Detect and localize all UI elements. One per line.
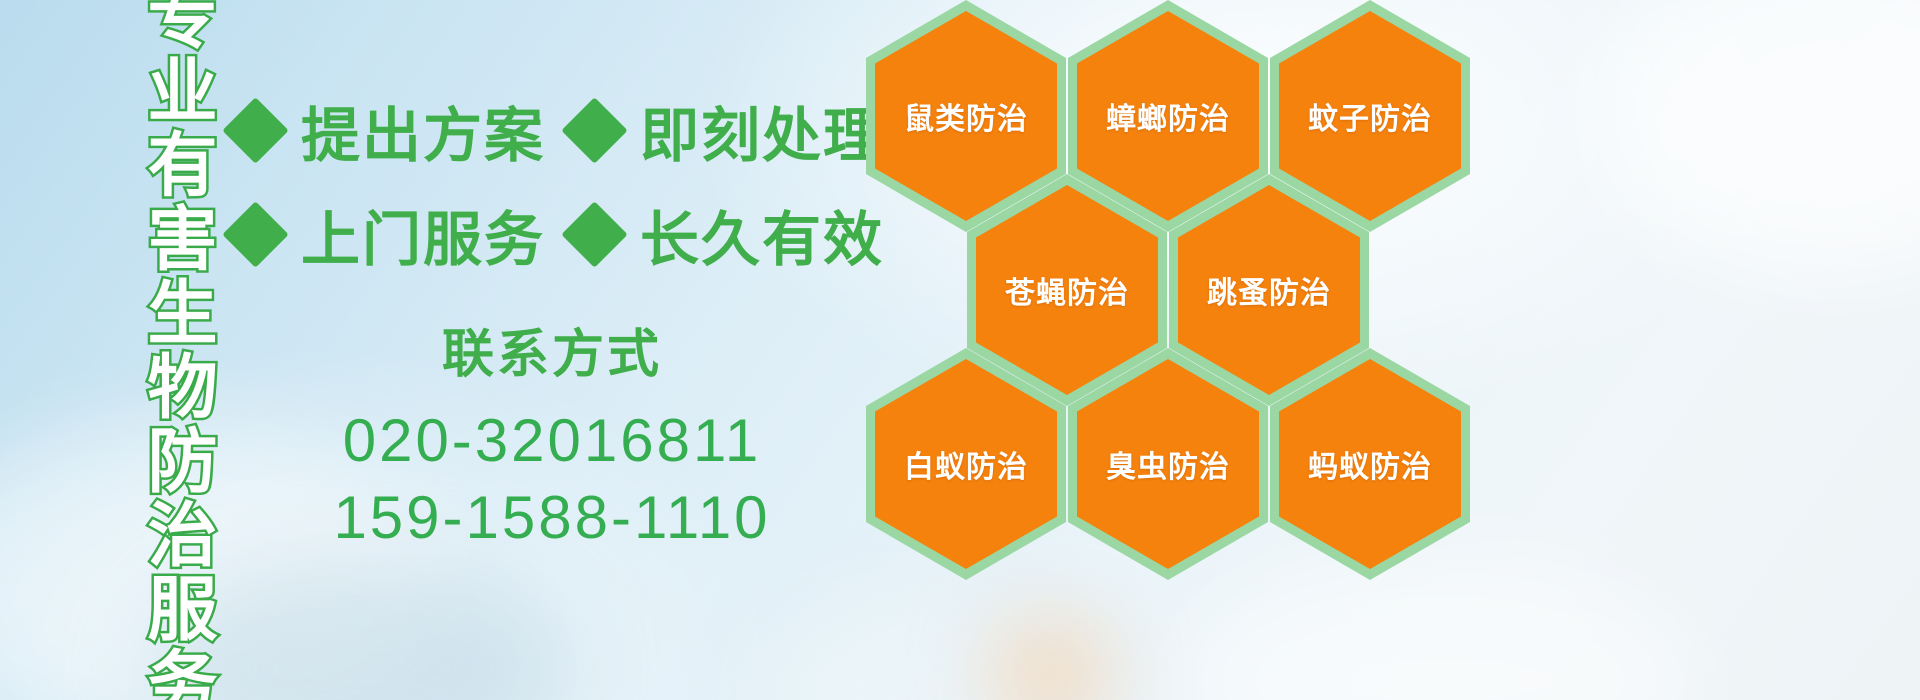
- feature-label: 即刻处理: [640, 88, 884, 173]
- contact-title: 联系方式: [232, 312, 872, 387]
- feature-list: 提出方案 即刻处理 上门服务 长久有效: [232, 78, 872, 286]
- service-label: 跳蚤防治: [1207, 268, 1331, 312]
- contact-block: 联系方式 020-32016811 159-1588-1110: [232, 312, 872, 557]
- diamond-bullet-icon: [561, 97, 627, 163]
- feature-label: 上门服务: [301, 192, 545, 277]
- phone-number-mobile[interactable]: 159-1588-1110: [232, 480, 872, 557]
- feature-label: 提出方案: [301, 88, 545, 173]
- diamond-bullet-icon: [222, 201, 288, 267]
- pest-control-banner: 专业有害生物防治服务 提出方案 即刻处理 上门服务 长久有效 联系方式 0: [0, 0, 1920, 700]
- service-label: 鼠类防治: [904, 94, 1028, 138]
- service-label: 苍蝇防治: [1005, 268, 1129, 312]
- vertical-headline: 专业有害生物防治服务: [108, 10, 212, 690]
- feature-row: 上门服务 长久有效: [232, 182, 872, 286]
- service-honeycomb: 鼠类防治 蟑螂防治 蚊子防治 苍蝇防治 跳蚤防治 白蚁防治 臭虫防治 蚂蚁: [858, 0, 1478, 700]
- diamond-bullet-icon: [561, 201, 627, 267]
- service-label: 臭虫防治: [1106, 442, 1230, 486]
- phone-number-landline[interactable]: 020-32016811: [232, 403, 872, 480]
- feature-label: 长久有效: [640, 192, 884, 277]
- service-label: 白蚁防治: [904, 442, 1028, 486]
- feature-item: 即刻处理: [571, 88, 884, 173]
- service-label: 蟑螂防治: [1106, 94, 1230, 138]
- feature-item: 上门服务: [232, 192, 545, 277]
- service-label: 蚂蚁防治: [1308, 442, 1432, 486]
- feature-row: 提出方案 即刻处理: [232, 78, 872, 182]
- feature-item: 长久有效: [571, 192, 884, 277]
- diamond-bullet-icon: [222, 97, 288, 163]
- background-blur-blob: [1600, 0, 1920, 280]
- service-label: 蚊子防治: [1308, 94, 1432, 138]
- feature-item: 提出方案: [232, 88, 545, 173]
